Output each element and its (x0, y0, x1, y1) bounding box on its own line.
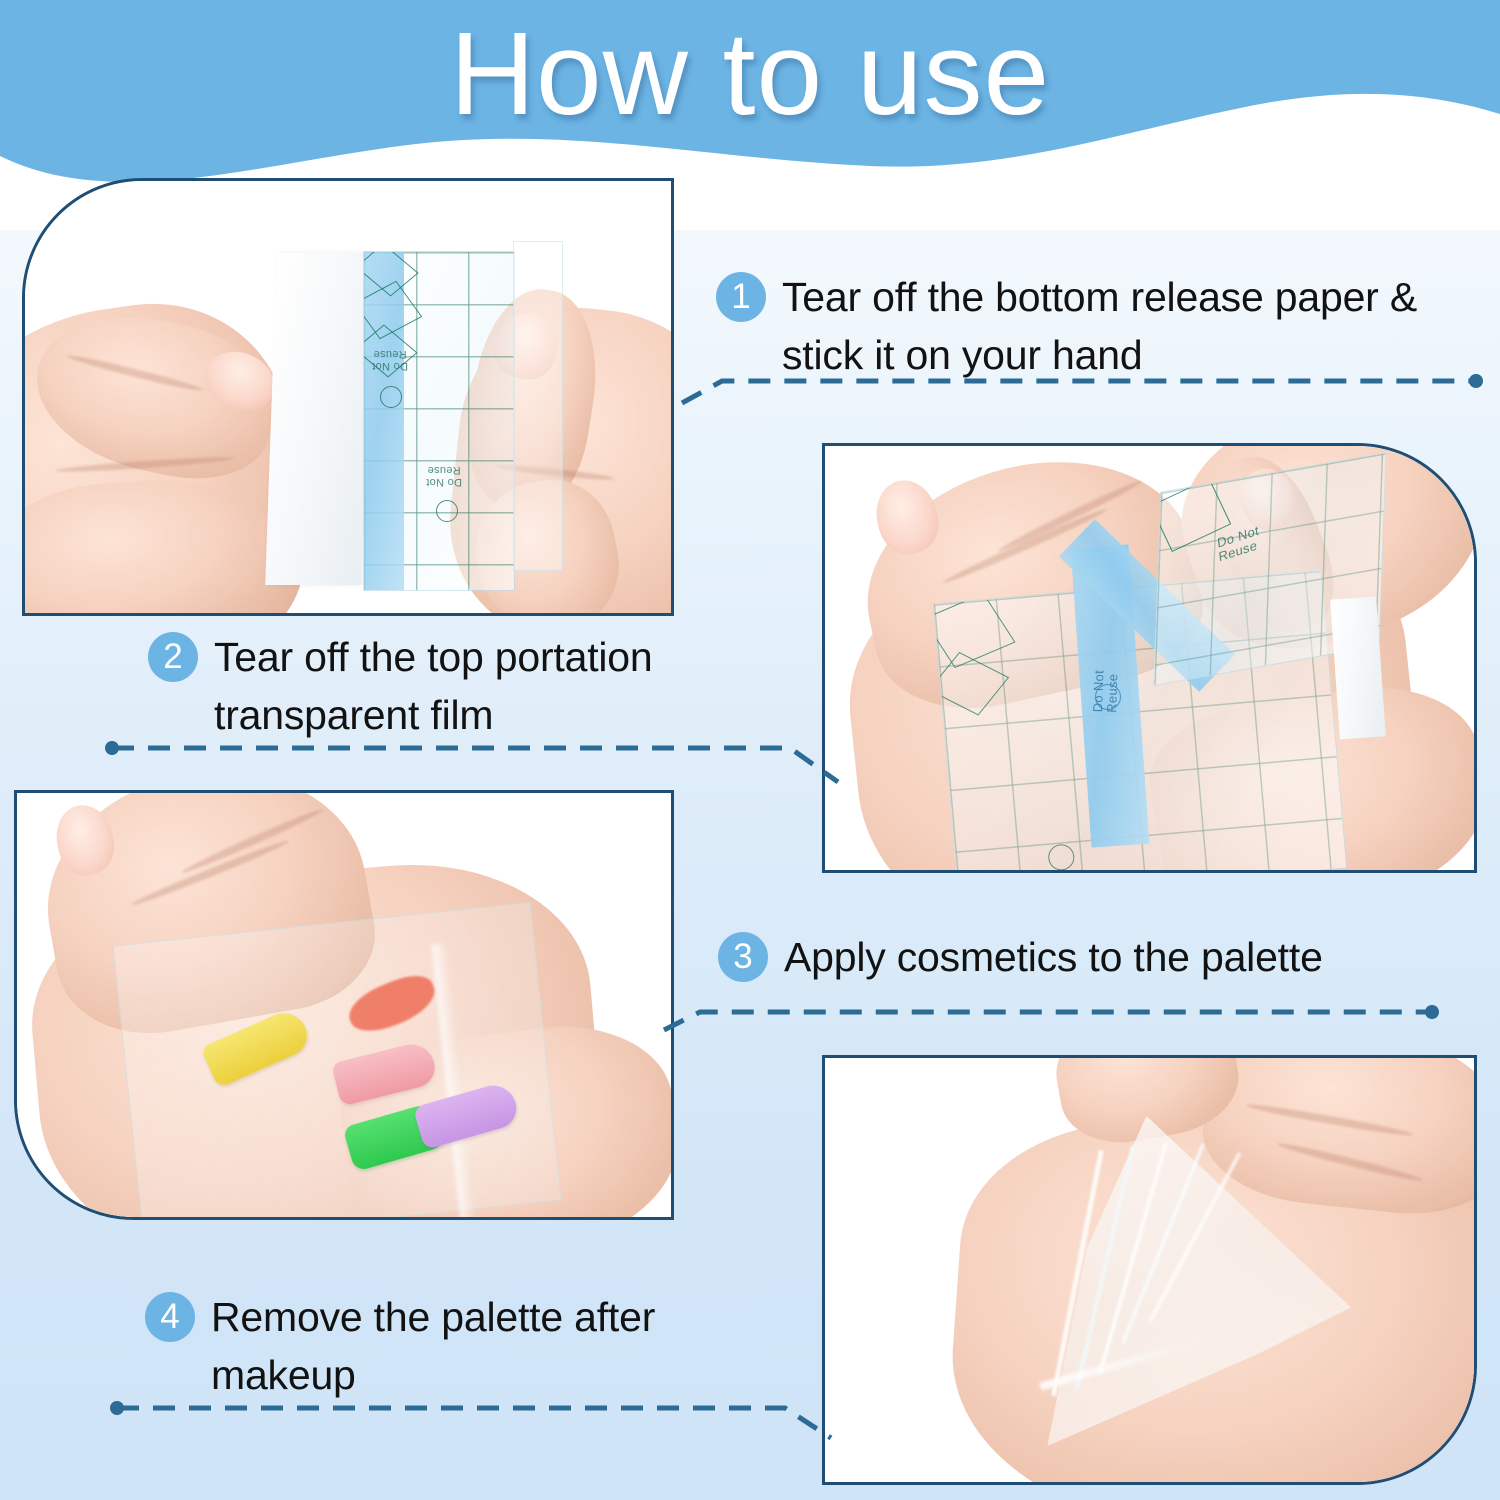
release-paper (265, 253, 373, 585)
photo-panel-step-3 (14, 790, 674, 1220)
step-4-text: Remove the palette after makeup (211, 1288, 745, 1404)
step-3: 3 Apply cosmetics to the palette (718, 928, 1488, 986)
step-2-text: Tear off the top portation transparent f… (214, 628, 748, 744)
film-no-reuse-circle-icon-a (380, 386, 402, 408)
connector-step-2 (100, 730, 860, 790)
step-4: 4 Remove the palette after makeup (145, 1288, 745, 1404)
transparent-film-right-edge (513, 241, 563, 571)
scene-peel-top-film: Do Not Reuse Do Not Reuse Do Not Reuse (825, 446, 1474, 870)
applied-film-do-not-reuse: Do Not Reuse (1050, 869, 1093, 870)
film-do-not-reuse-text-a: Do Not Reuse (372, 348, 408, 371)
scene-remove-palette (825, 1058, 1474, 1482)
step-3-number-badge: 3 (718, 932, 768, 982)
connector-step-4 (105, 1390, 865, 1450)
scene-peel-release-paper: Do Not Reuse Do Not Reuse (25, 181, 671, 613)
connector-step-1 (660, 355, 1500, 405)
step-2-number-badge: 2 (148, 632, 198, 682)
step-4-number-badge: 4 (145, 1292, 195, 1342)
step-2: 2 Tear off the top portation transparent… (148, 628, 748, 744)
connector-step-3 (650, 990, 1500, 1040)
transparent-film: Do Not Reuse Do Not Reuse (363, 251, 515, 591)
photo-panel-step-2: Do Not Reuse Do Not Reuse Do Not Reuse (822, 443, 1477, 873)
white-backing-strip (1330, 597, 1386, 740)
film-do-not-reuse-text-b: Do Not Reuse (426, 464, 462, 487)
scene-apply-cosmetics (17, 793, 671, 1217)
page-title: How to use (0, 8, 1500, 140)
photo-panel-step-4 (822, 1055, 1477, 1485)
photo-panel-step-1: Do Not Reuse Do Not Reuse (22, 178, 674, 616)
blue-tab-do-not-reuse: Do Not Reuse (1091, 670, 1120, 713)
step-3-text: Apply cosmetics to the palette (784, 928, 1323, 986)
palette-film-overlay (112, 902, 561, 1217)
film-no-reuse-circle-icon-b (436, 500, 458, 522)
how-to-use-infographic: How to use (0, 0, 1500, 1500)
step-1-number-badge: 1 (716, 272, 766, 322)
